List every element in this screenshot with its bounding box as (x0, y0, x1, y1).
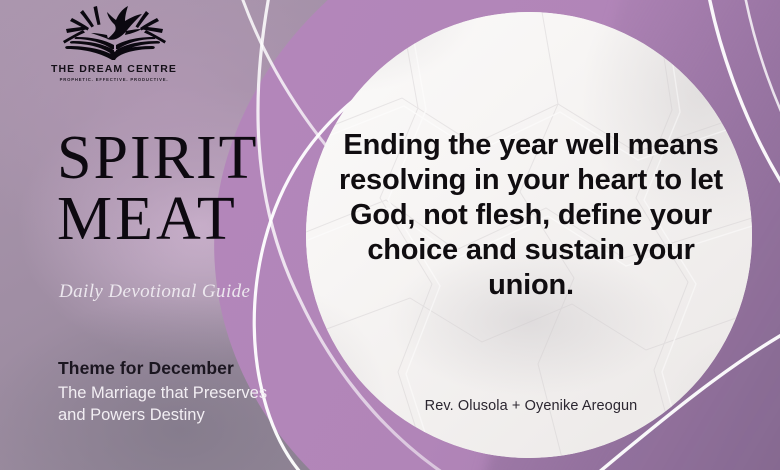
quote-attribution: Rev. Olusola + Oyenike Areogun (336, 398, 726, 414)
organization-logo: THE DREAM CENTRE PROPHETIC. EFFECTIVE. P… (44, 4, 184, 82)
theme-body-text: The Marriage that Preserves and Powers D… (58, 382, 298, 426)
brand-subtitle: Daily Devotional Guide (59, 281, 250, 303)
brand-title-line2: MEAT (57, 189, 258, 250)
left-column: THE DREAM CENTRE PROPHETIC. EFFECTIVE. P… (0, 0, 300, 470)
quote-text: Ending the year well means resolving in … (336, 128, 726, 303)
brand-title-line1: SPIRIT (57, 124, 258, 192)
page-title: SPIRIT MEAT (57, 128, 258, 250)
logo-name-text: THE DREAM CENTRE (44, 63, 184, 75)
theme-heading: Theme for December (58, 358, 234, 379)
eagle-over-open-book-icon (55, 4, 173, 62)
devotional-poster: Ending the year well means resolving in … (0, 0, 780, 470)
logo-tagline-text: PROPHETIC. EFFECTIVE. PRODUCTIVE. (44, 77, 184, 82)
